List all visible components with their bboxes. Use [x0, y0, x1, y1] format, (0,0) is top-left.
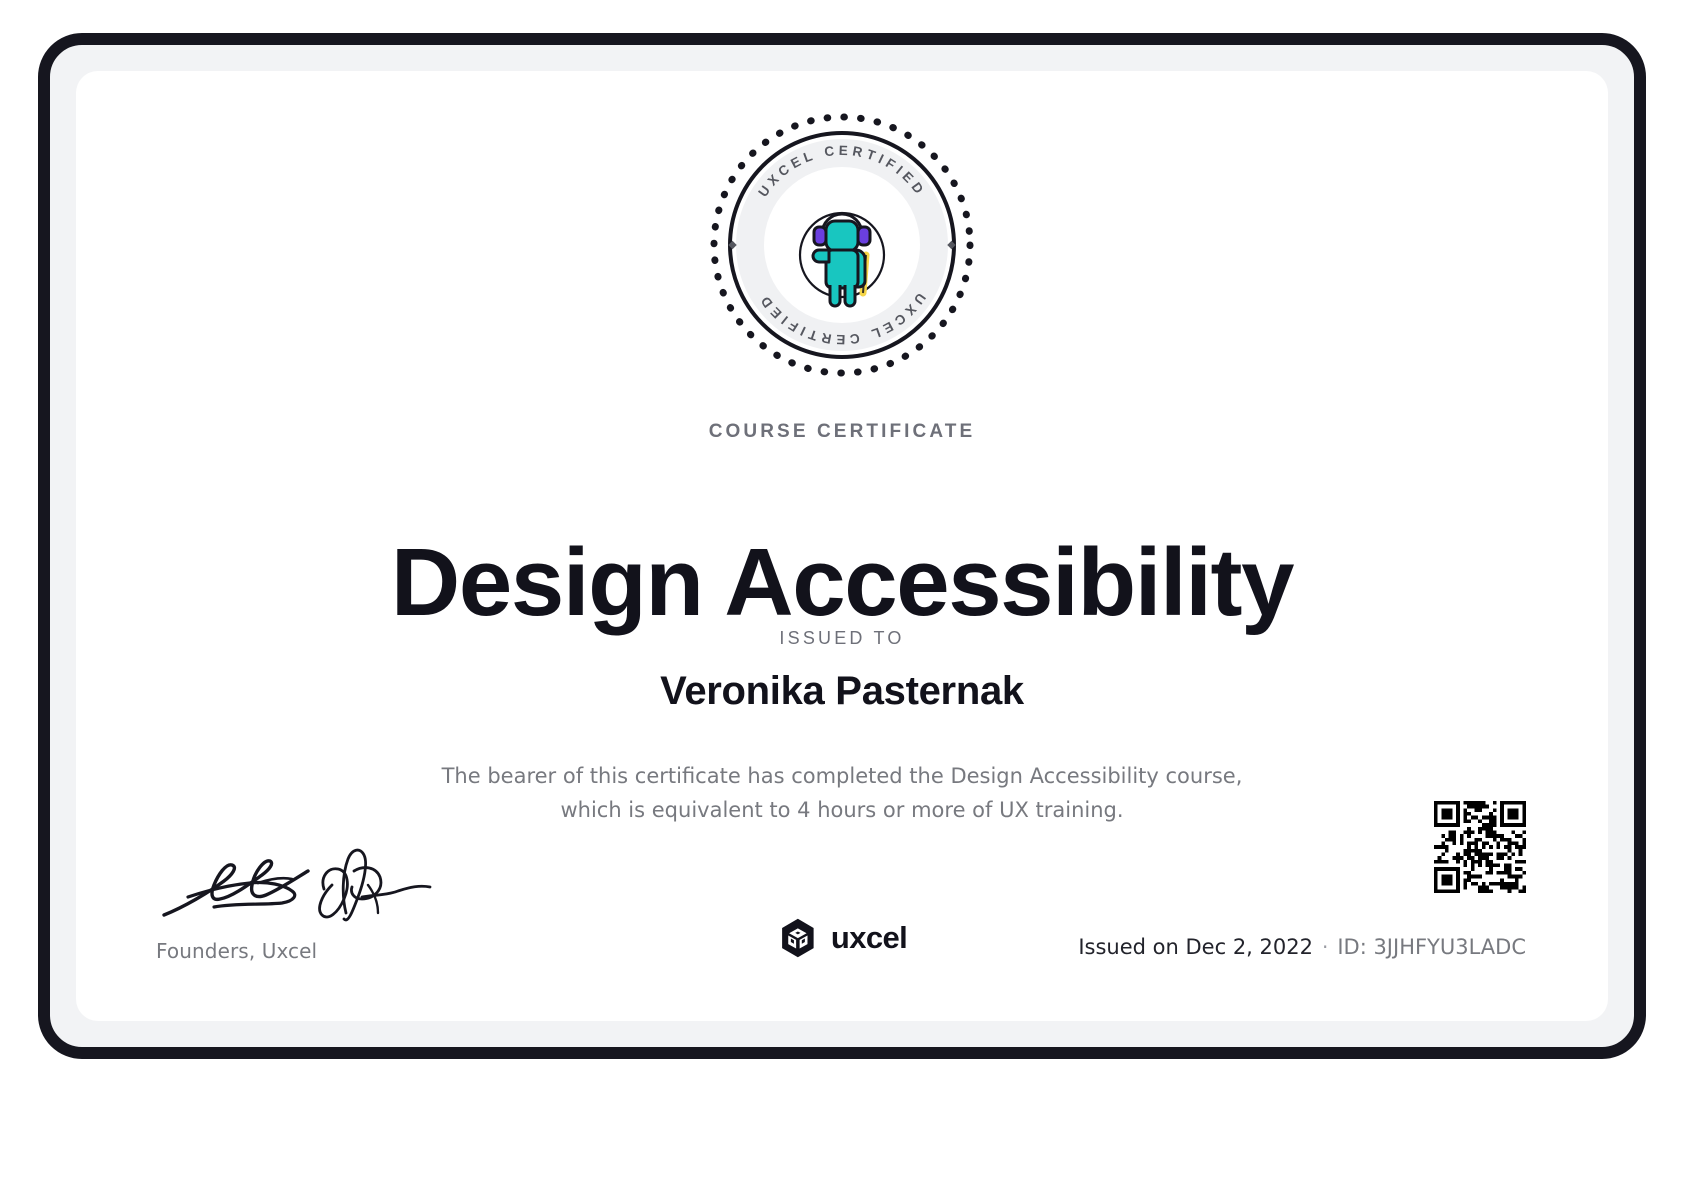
eyebrow-label: COURSE CERTIFICATE	[76, 421, 1608, 443]
qr-code-icon	[1434, 801, 1526, 893]
certificate-page: UXCEL CERTIFIED UXCEL CERTIFIED	[0, 0, 1684, 1190]
uxcel-certified-seal: UXCEL CERTIFIED UXCEL CERTIFIED	[706, 109, 978, 381]
certificate-card: UXCEL CERTIFIED UXCEL CERTIFIED	[76, 71, 1608, 1021]
certificate-description: The bearer of this certificate has compl…	[392, 759, 1292, 827]
recipient-name: Veronika Pasternak	[76, 669, 1608, 714]
description-line-1: The bearer of this certificate has compl…	[392, 759, 1292, 793]
certificate-id: ID: 3JJHFYU3LADC	[1337, 935, 1526, 959]
course-title: Design Accessibility	[76, 533, 1608, 634]
signature-block: Founders, Uxcel	[156, 841, 486, 963]
uxcel-hexagon-cube-logo-icon	[777, 917, 819, 959]
description-line-2: which is equivalent to 4 hours or more o…	[392, 793, 1292, 827]
signature-icon	[158, 841, 448, 929]
brand-wordmark: uxcel	[831, 920, 907, 956]
qr-code[interactable]	[1434, 801, 1526, 893]
founders-label: Founders, Uxcel	[156, 939, 486, 963]
issued-on-date: Issued on Dec 2, 2022	[1078, 935, 1313, 959]
uxcel-brand: uxcel	[777, 917, 907, 959]
certificate-frame: UXCEL CERTIFIED UXCEL CERTIFIED	[38, 33, 1646, 1059]
separator-dot: ·	[1322, 935, 1328, 959]
issued-to-label: ISSUED TO	[76, 628, 1608, 649]
issue-info: Issued on Dec 2, 2022 · ID: 3JJHFYU3LADC	[1078, 935, 1526, 959]
seal-graphic: UXCEL CERTIFIED UXCEL CERTIFIED	[706, 109, 978, 381]
